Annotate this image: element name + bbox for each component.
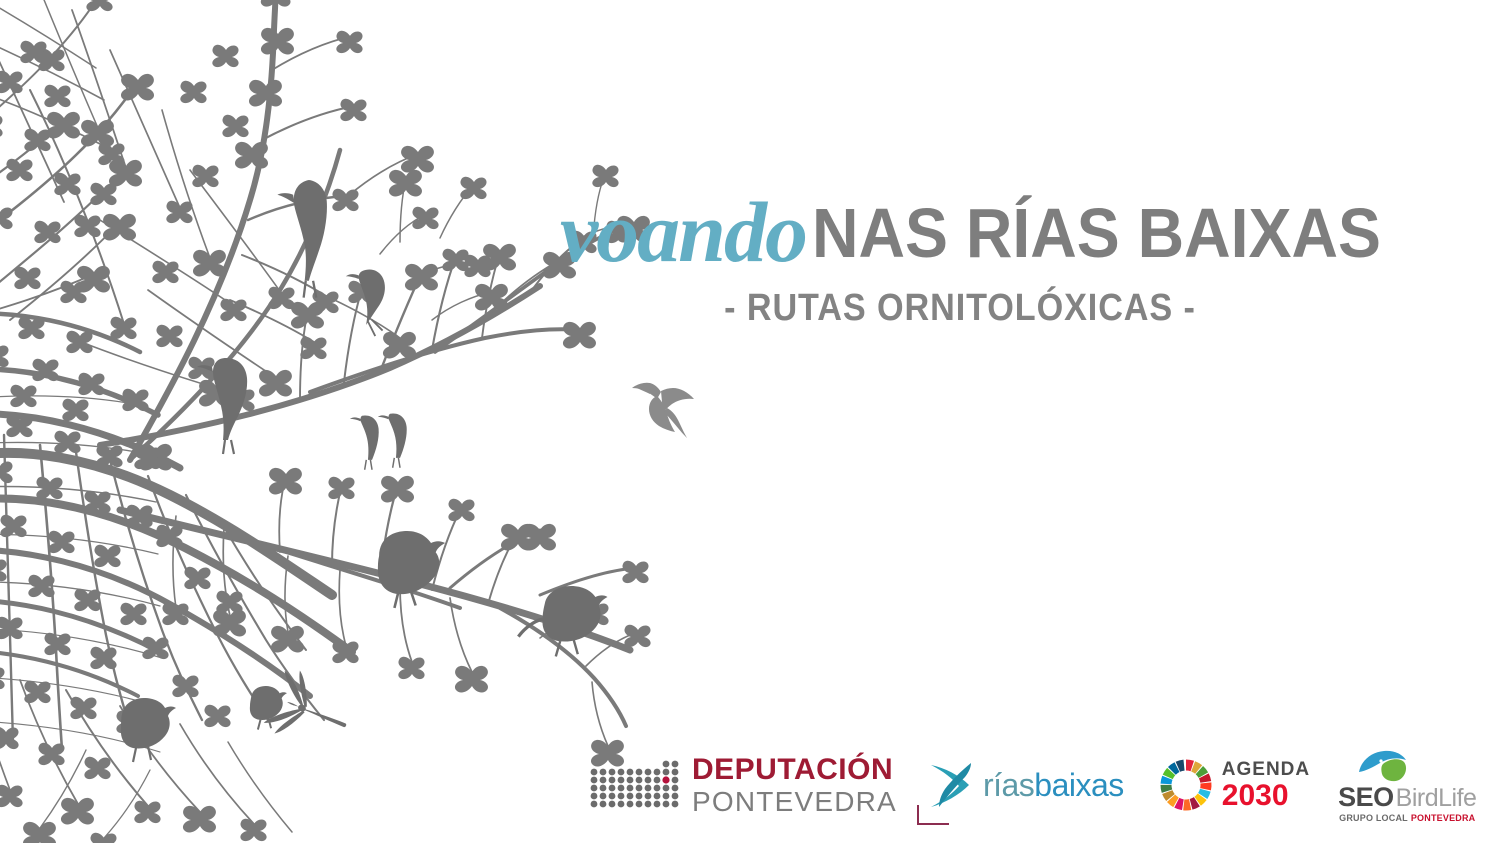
title-block: voandoNAS RÍAS BAIXAS - RUTAS ORNITOLÓXI… [560,185,1360,330]
title-script-word: voando [560,184,812,280]
bird-silhouettes [121,180,608,762]
agenda-line2: 2030 [1222,781,1310,811]
riasbaixas-x-mark-icon [927,759,979,811]
seo-main-text: SEO [1338,784,1394,811]
seo-local-place: PONTEVEDRA [1411,814,1476,823]
deputacion-dot-grid-icon [590,759,680,811]
title-main-words: NAS RÍAS BAIXAS [812,198,1381,268]
deputacion-line2: PONTEVEDRA [692,788,897,816]
seo-bird-icon [1356,748,1418,782]
dragonfly-silhouette [261,665,358,757]
tree-silhouette-artwork [0,0,700,843]
main-title: voandoNAS RÍAS BAIXAS [560,185,1360,271]
logo-agenda-2030[interactable]: AGENDA 2030 [1158,757,1310,813]
sdg-color-wheel-icon [1158,757,1214,813]
subtitle: - RUTAS ORNITOLÓXICAS - [600,287,1320,330]
logo-seo-birdlife[interactable]: SEO BirdLife GRUPO LOCAL PONTEVEDRA [1338,748,1476,823]
agenda-line1: AGENDA [1222,760,1310,779]
logo-riasbaixas[interactable]: ríasbaixas [927,759,1124,811]
riasbaixas-part1: rías [983,767,1034,803]
hummingbird-icon [628,376,700,438]
seo-sub-text: BirdLife [1396,786,1477,811]
poster-canvas: voandoNAS RÍAS BAIXAS - RUTAS ORNITOLÓXI… [0,0,1500,843]
riasbaixas-part2: baixas [1034,767,1124,803]
seo-local-label: GRUPO LOCAL [1339,814,1408,823]
logo-deputacion-pontevedra[interactable]: DEPUTACIÓN PONTEVEDRA [590,755,897,816]
riasbaixas-corner-rule [917,805,949,825]
deputacion-line1: DEPUTACIÓN [692,755,897,785]
logo-bar: DEPUTACIÓN PONTEVEDRA ríasbaixas [590,742,1430,828]
